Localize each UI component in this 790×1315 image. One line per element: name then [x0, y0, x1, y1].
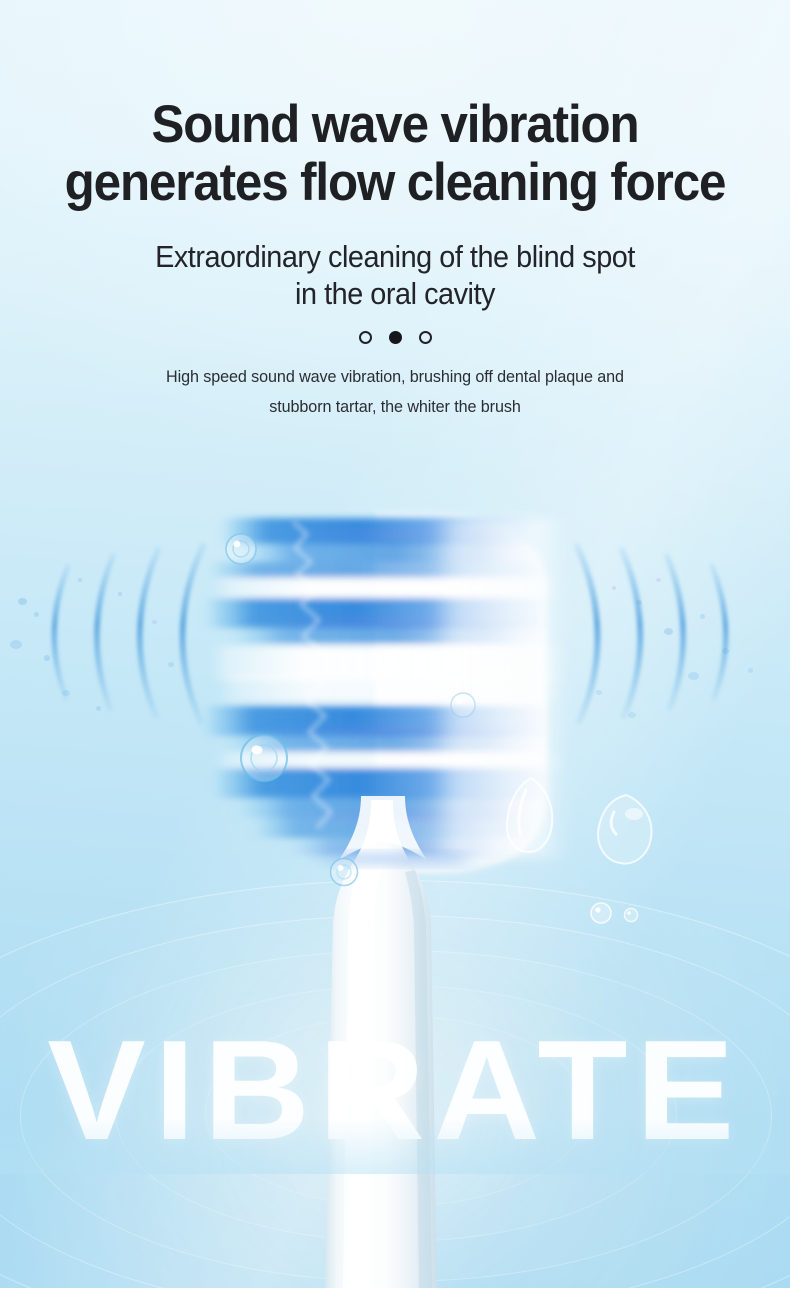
- speckle: [748, 668, 753, 673]
- water-droplet: [327, 855, 361, 889]
- sound-wave-arcs-right: [555, 530, 780, 730]
- speckle: [44, 655, 50, 661]
- body-description: High speed sound wave vibration, brushin…: [20, 362, 771, 422]
- page-title-line-1: Sound wave vibration: [151, 95, 638, 154]
- product-hero-panel: VIBRATE Sound wave vibration generates f…: [0, 0, 790, 1288]
- water-droplet: [588, 900, 614, 926]
- speckle: [656, 578, 661, 582]
- speckle: [62, 690, 70, 696]
- carousel-pagination-dots[interactable]: [0, 331, 790, 344]
- speckle: [722, 648, 729, 654]
- pagination-dot-1[interactable]: [359, 331, 372, 344]
- page-subtitle-line-2: in the oral cavity: [28, 275, 763, 312]
- page-title: Sound wave vibration generates flow clea…: [28, 96, 763, 212]
- speckle: [168, 662, 174, 667]
- body-description-line-1: High speed sound wave vibration, brushin…: [166, 367, 624, 386]
- sound-wave-arcs-left: [10, 530, 230, 730]
- pagination-dot-2-active[interactable]: [389, 331, 402, 344]
- water-droplet: [498, 772, 564, 858]
- speckle: [636, 600, 642, 605]
- body-description-line-2: stubborn tartar, the whiter the brush: [20, 392, 771, 422]
- speckle: [18, 598, 27, 605]
- speckle: [688, 672, 699, 680]
- page-subtitle: Extraordinary cleaning of the blind spot…: [28, 238, 763, 312]
- page-subtitle-line-1: Extraordinary cleaning of the blind spot: [155, 239, 635, 274]
- water-droplet: [236, 730, 292, 786]
- page-title-line-2: generates flow cleaning force: [28, 154, 763, 212]
- vibrate-watermark-text: VIBRATE: [0, 1016, 790, 1166]
- water-droplet: [590, 790, 660, 870]
- speckle: [118, 592, 122, 596]
- water-droplet: [222, 530, 260, 568]
- speckle: [596, 690, 602, 695]
- water-droplet: [448, 690, 478, 720]
- speckle: [96, 706, 101, 711]
- speckle: [612, 586, 616, 590]
- speckle: [152, 620, 157, 624]
- speckle: [10, 640, 22, 649]
- footer-white-band: [0, 1288, 790, 1315]
- water-droplet: [622, 906, 640, 924]
- speckle: [664, 628, 673, 635]
- speckle: [34, 612, 39, 617]
- speckle: [78, 578, 82, 582]
- pagination-dot-3[interactable]: [419, 331, 432, 344]
- speckle: [700, 614, 705, 619]
- speckle: [628, 712, 636, 718]
